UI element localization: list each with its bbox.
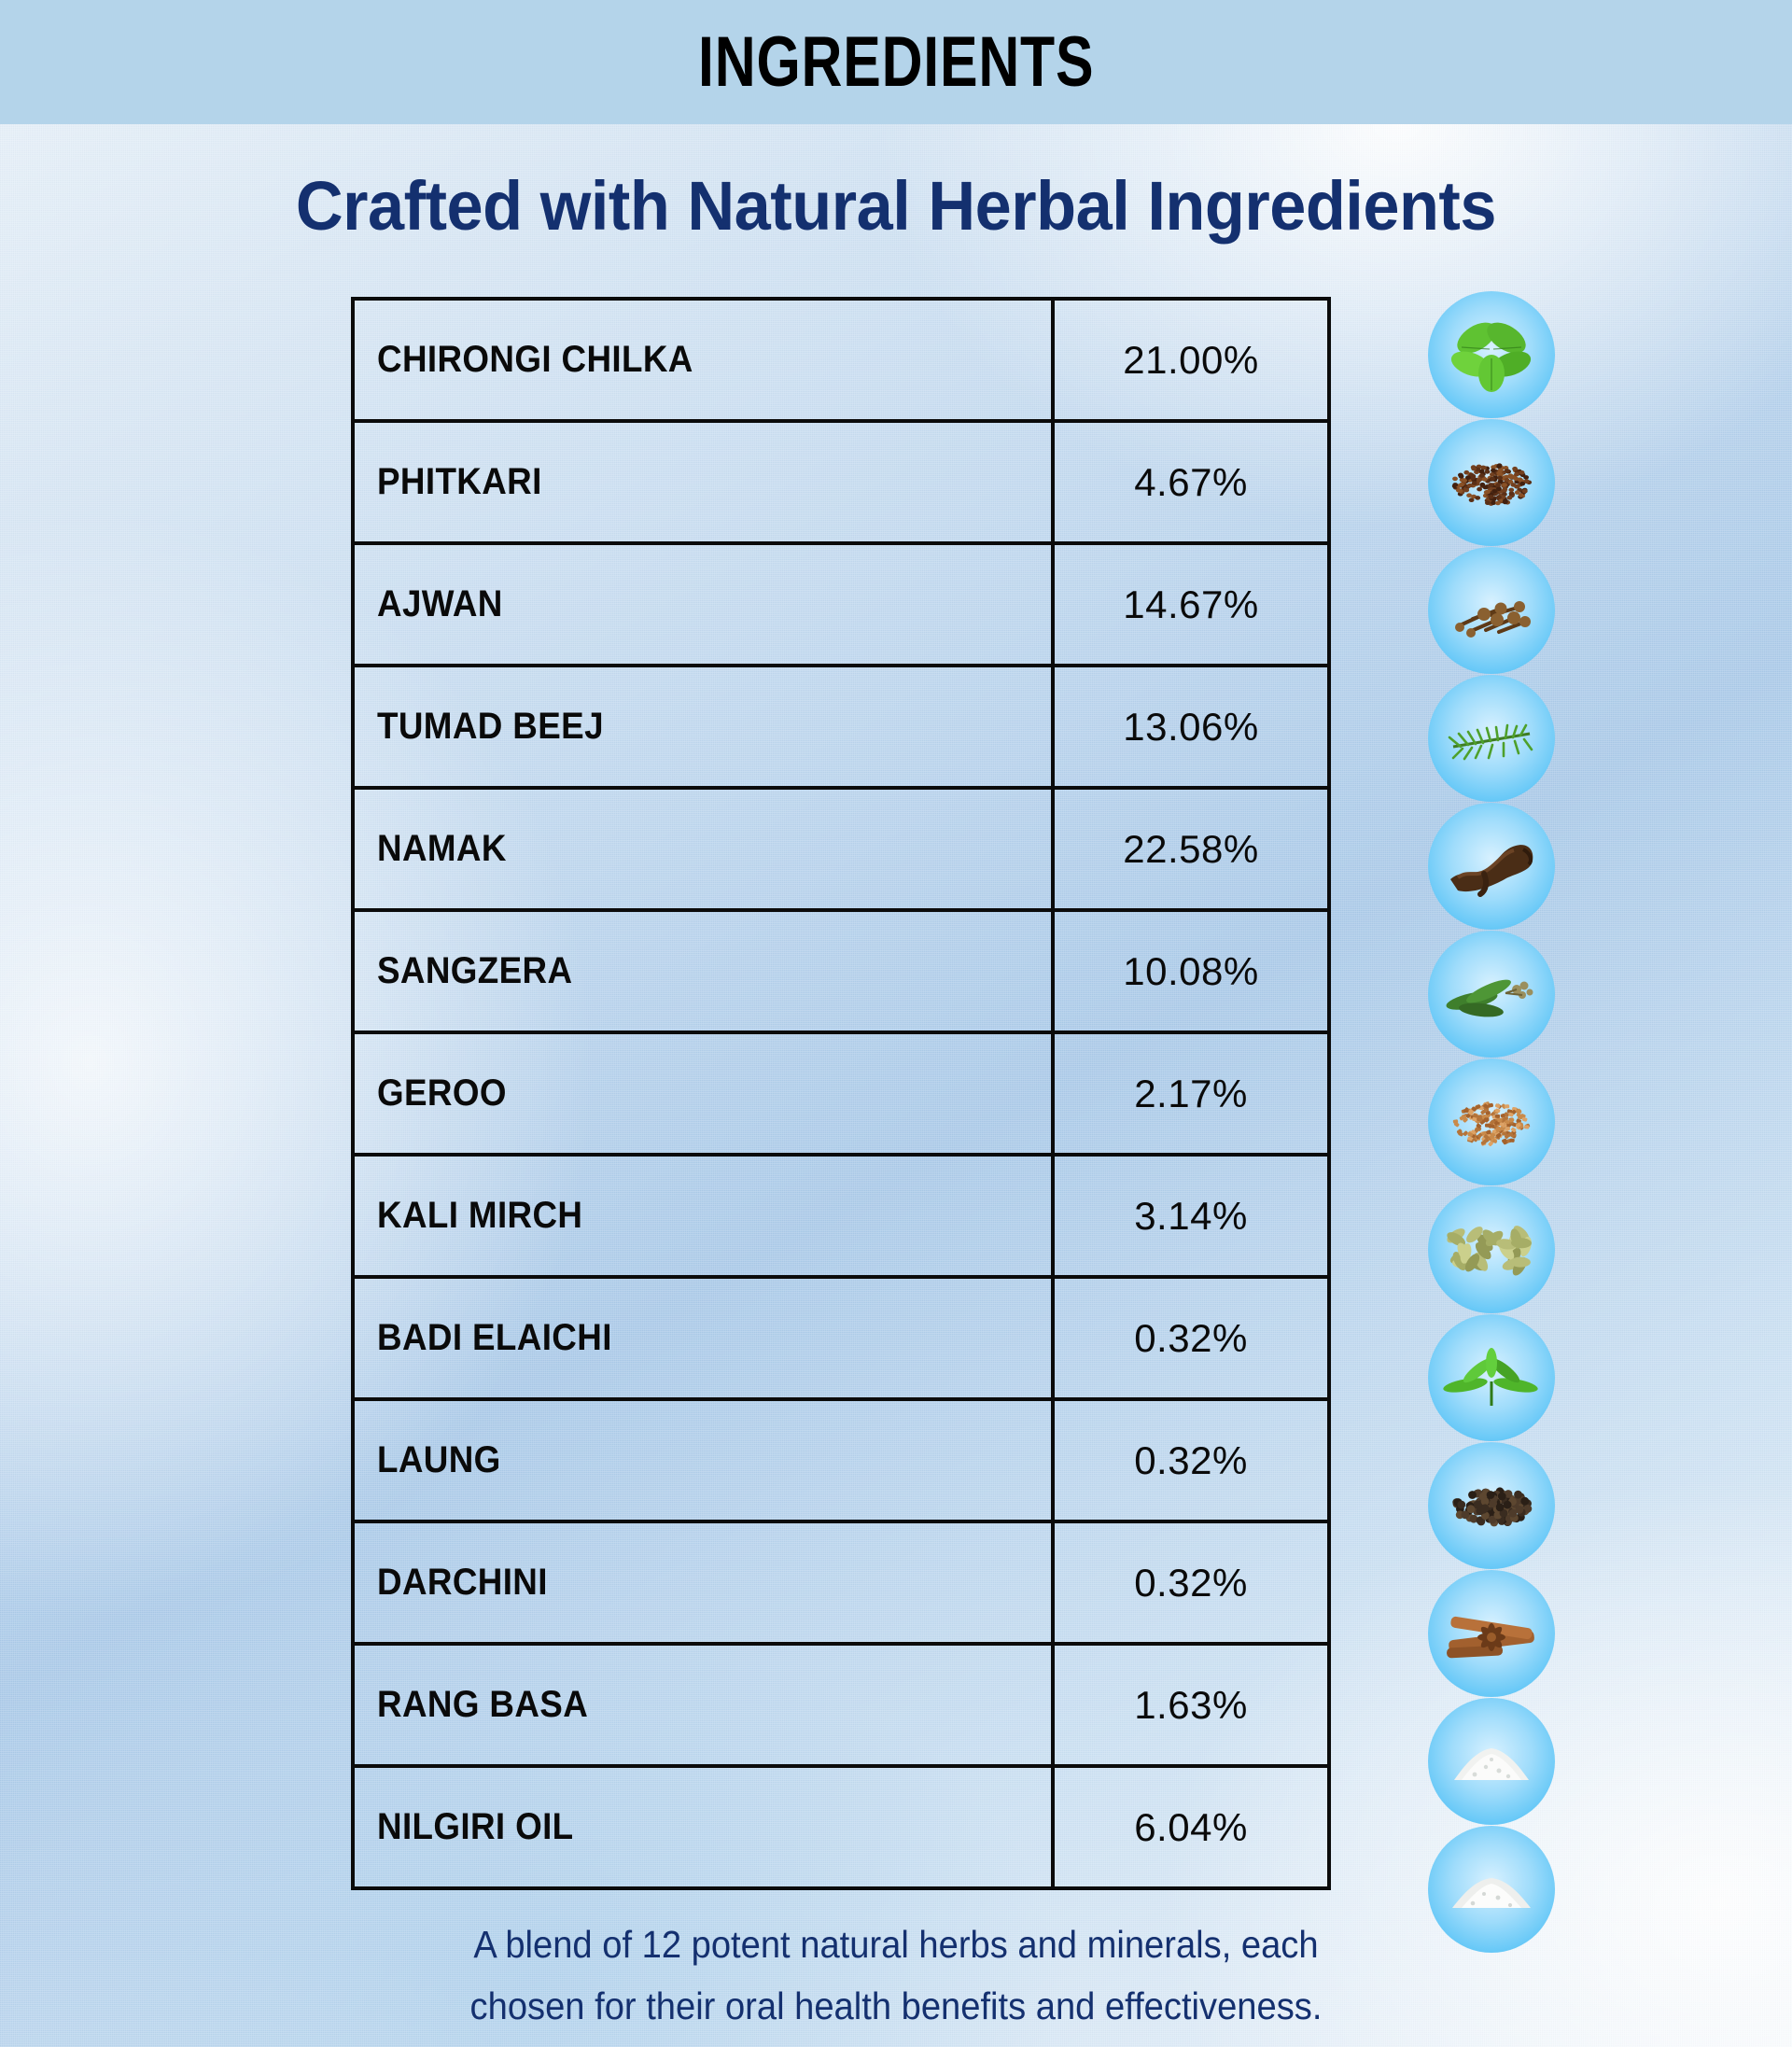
ingredient-name-cell: GEROO xyxy=(353,1032,1053,1155)
cinnamon-star-anise-icon xyxy=(1428,1570,1555,1697)
ingredient-percent-cell: 10.08% xyxy=(1053,910,1329,1032)
rosemary-sprig-icon xyxy=(1428,675,1555,802)
ingredient-percent-cell: 0.32% xyxy=(1053,1277,1329,1399)
fenugreek-seeds-icon xyxy=(1428,1059,1555,1185)
ingredient-percent-cell: 13.06% xyxy=(1053,666,1329,788)
table-row: NAMAK22.58% xyxy=(353,788,1329,910)
cardamom-pods-icon xyxy=(1428,1186,1555,1313)
ingredient-icon-column xyxy=(1417,291,1566,1954)
table-row: AJWAN14.67% xyxy=(353,543,1329,666)
ingredient-name-label: SANGZERA xyxy=(377,950,572,992)
ingredient-percent-cell: 0.32% xyxy=(1053,1399,1329,1521)
ingredient-name-label: GEROO xyxy=(377,1073,507,1115)
ingredients-table: CHIRONGI CHILKA21.00%PHITKARI4.67%AJWAN1… xyxy=(351,297,1331,1890)
mint-leaves-icon xyxy=(1428,291,1555,418)
table-row: KALI MIRCH3.14% xyxy=(353,1155,1329,1277)
header-band: INGREDIENTS xyxy=(0,0,1792,124)
ingredient-name-label: AJWAN xyxy=(377,583,503,625)
ingredient-name-cell: SANGZERA xyxy=(353,910,1053,1032)
table-row: CHIRONGI CHILKA21.00% xyxy=(353,299,1329,421)
ingredient-name-label: LAUNG xyxy=(377,1439,501,1481)
section-heading-text: Crafted with Natural Herbal Ingredients xyxy=(296,166,1496,245)
table-row: RANG BASA1.63% xyxy=(353,1644,1329,1766)
eucalyptus-leaves-icon xyxy=(1428,931,1555,1058)
ingredient-name-cell: DARCHINI xyxy=(353,1521,1053,1644)
table-row: BADI ELAICHI0.32% xyxy=(353,1277,1329,1399)
table-row: DARCHINI0.32% xyxy=(353,1521,1329,1644)
ingredient-name-cell: BADI ELAICHI xyxy=(353,1277,1053,1399)
brown-seeds-pile-icon xyxy=(1428,419,1555,546)
ingredient-percent-cell: 14.67% xyxy=(1053,543,1329,666)
footer-note: A blend of 12 potent natural herbs and m… xyxy=(0,1914,1792,2037)
ingredient-name-cell: TUMAD BEEJ xyxy=(353,666,1053,788)
ingredient-name-label: DARCHINI xyxy=(377,1562,548,1604)
footer-note-line-2: chosen for their oral health benefits an… xyxy=(63,1975,1729,2037)
table-row: NILGIRI OIL6.04% xyxy=(353,1766,1329,1888)
table-row: LAUNG0.32% xyxy=(353,1399,1329,1521)
ingredient-name-label: NAMAK xyxy=(377,828,507,870)
ingredient-name-cell: NILGIRI OIL xyxy=(353,1766,1053,1888)
ingredient-percent-cell: 3.14% xyxy=(1053,1155,1329,1277)
ingredient-percent-cell: 0.32% xyxy=(1053,1521,1329,1644)
table-row: SANGZERA10.08% xyxy=(353,910,1329,1032)
black-peppercorns-icon xyxy=(1428,1442,1555,1569)
ingredient-name-label: RANG BASA xyxy=(377,1684,588,1726)
footer-note-line-1: A blend of 12 potent natural herbs and m… xyxy=(63,1914,1729,1975)
page-title: INGREDIENTS xyxy=(698,21,1094,103)
table-row: GEROO2.17% xyxy=(353,1032,1329,1155)
ingredient-name-label: BADI ELAICHI xyxy=(377,1317,612,1359)
ingredient-name-label: NILGIRI OIL xyxy=(377,1806,574,1848)
ingredient-name-cell: RANG BASA xyxy=(353,1644,1053,1766)
ingredient-percent-cell: 6.04% xyxy=(1053,1766,1329,1888)
ingredient-name-label: KALI MIRCH xyxy=(377,1195,582,1237)
ingredient-name-cell: LAUNG xyxy=(353,1399,1053,1521)
white-salt-powder-icon xyxy=(1428,1698,1555,1825)
ingredient-name-label: PHITKARI xyxy=(377,461,542,503)
ingredient-name-cell: KALI MIRCH xyxy=(353,1155,1053,1277)
table-row: PHITKARI4.67% xyxy=(353,421,1329,543)
ingredient-name-cell: AJWAN xyxy=(353,543,1053,666)
ingredient-percent-cell: 2.17% xyxy=(1053,1032,1329,1155)
section-heading: Crafted with Natural Herbal Ingredients xyxy=(0,166,1792,245)
ingredient-name-cell: CHIRONGI CHILKA xyxy=(353,299,1053,421)
table-row: TUMAD BEEJ13.06% xyxy=(353,666,1329,788)
ingredient-percent-cell: 1.63% xyxy=(1053,1644,1329,1766)
green-leaf-sprig-icon xyxy=(1428,1314,1555,1441)
ingredient-name-cell: NAMAK xyxy=(353,788,1053,910)
ingredient-percent-cell: 21.00% xyxy=(1053,299,1329,421)
ingredient-percent-cell: 4.67% xyxy=(1053,421,1329,543)
ingredient-name-cell: PHITKARI xyxy=(353,421,1053,543)
ingredient-percent-cell: 22.58% xyxy=(1053,788,1329,910)
ingredient-name-label: CHIRONGI CHILKA xyxy=(377,339,693,381)
cloves-icon xyxy=(1428,547,1555,674)
ingredient-name-label: TUMAD BEEJ xyxy=(377,706,604,748)
dried-bark-root-icon xyxy=(1428,803,1555,930)
